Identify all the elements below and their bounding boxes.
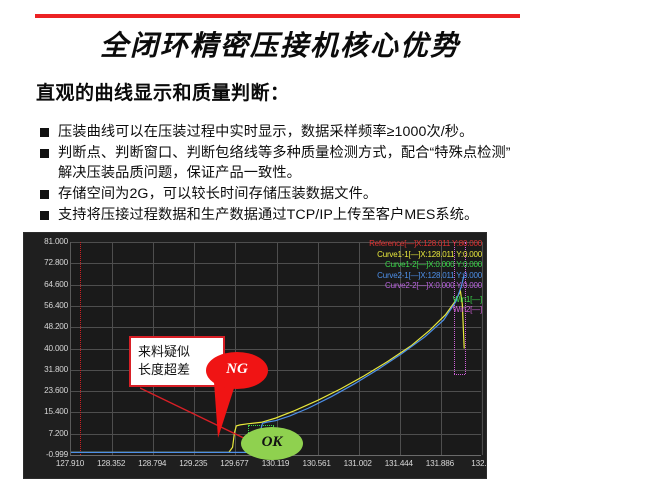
list-item: 判断点、判断窗口、判断包络线等多种质量检测方式，配合“特殊点检测” 解决压装品质… [40,143,640,183]
legend-item-curve1-2: Curve1-2[—]X:0.000 Y:0.000 [369,260,482,271]
x-axis-tick: 127.910 [56,459,84,468]
bullet-square-icon [40,128,49,137]
y-axis-tick: 81.000 [24,237,68,246]
y-axis-tick: 31.800 [24,365,68,374]
list-item-text: 压装曲线可以在压装过程中实时显示，数据采样频率≥1000次/秒。 [58,122,473,142]
y-axis-tick-labels: 81.00072.80064.60056.40048.20040.00031.8… [24,233,68,478]
list-item-text: 判断点、判断窗口、判断包络线等多种质量检测方式，配合“特殊点检测” 解决压装品质… [58,143,511,183]
ng-badge-label: NG [206,361,268,378]
legend-item-curve2-2: Curve2-2[—]X:0.000 Y:0.000 [369,281,482,292]
x-axis-tick: 128.794 [138,459,166,468]
x-axis-tick: 129.677 [220,459,248,468]
list-item-text: 存储空间为2G，可以较长时间存储压装数据文件。 [58,184,377,204]
y-axis-tick: 72.800 [24,258,68,267]
x-axis-tick: 128.352 [97,459,125,468]
grid-line-vertical [482,242,483,455]
bullet-list: 压装曲线可以在压装过程中实时显示，数据采样频率≥1000次/秒。 判断点、判断窗… [40,122,640,226]
x-axis-tick: 131.886 [426,459,454,468]
ng-badge: NG [206,352,268,389]
chart-legend: Reference[—]X:128.011 Y:80.000 Curve1-1[… [369,239,482,316]
x-axis-tick: 131.002 [344,459,372,468]
title-accent-rule [35,14,520,18]
list-item: 存储空间为2G，可以较长时间存储压装数据文件。 [40,184,640,204]
bullet-square-icon [40,211,49,220]
x-axis-tick-labels: 127.910128.352128.794129.235129.677130.1… [70,459,485,475]
list-item-text: 支持将压接过程数据和生产数据通过TCP/IP上传至客户MES系统。 [58,205,478,225]
y-axis-tick: 40.000 [24,344,68,353]
x-axis-tick: 129.235 [179,459,207,468]
x-axis-tick: 130.561 [302,459,330,468]
y-axis-tick: 23.600 [24,386,68,395]
legend-item-win1: Win1[—] [369,295,482,306]
list-item-line1: 压装曲线可以在压装过程中实时显示，数据采样频率≥1000次/秒。 [58,124,473,140]
list-item: 压装曲线可以在压装过程中实时显示，数据采样频率≥1000次/秒。 [40,122,640,142]
y-axis-tick: 64.600 [24,280,68,289]
list-item-line1: 判断点、判断窗口、判断包络线等多种质量检测方式，配合“特殊点检测” [58,145,511,161]
x-axis-tick: 132.3 [471,459,487,468]
ok-badge-label: OK [241,434,303,451]
y-axis-tick: 56.400 [24,301,68,310]
ok-badge: OK [241,427,303,460]
y-axis-tick: 15.400 [24,407,68,416]
x-axis-tick: 131.444 [385,459,413,468]
legend-item-win2: Win2[—] [369,305,482,316]
legend-item-curve1-1: Curve1-1[—]X:128.011 Y:0.000 [369,250,482,261]
bullet-square-icon [40,149,49,158]
legend-item-reference: Reference[—]X:128.011 Y:80.000 [369,239,482,250]
bullet-square-icon [40,190,49,199]
list-item-line1: 存储空间为2G，可以较长时间存储压装数据文件。 [58,186,377,202]
section-heading: 直观的曲线显示和质量判断： [36,78,290,105]
slide-root: 全闭环精密压接机核心优势 直观的曲线显示和质量判断： 压装曲线可以在压装过程中实… [0,0,650,487]
list-item: 支持将压接过程数据和生产数据通过TCP/IP上传至客户MES系统。 [40,205,640,225]
page-title: 全闭环精密压接机核心优势 [0,24,560,64]
y-axis-tick: -0.999 [24,450,68,459]
legend-item-curve2-1: Curve2-1[—]X:128.011 Y:0.000 [369,271,482,282]
list-item-line1: 支持将压接过程数据和生产数据通过TCP/IP上传至客户MES系统。 [58,207,478,223]
y-axis-tick: 48.200 [24,322,68,331]
x-axis-tick: 130.119 [262,459,290,468]
list-item-line2: 解决压装品质问题，保证产品一致性。 [58,163,511,183]
y-axis-tick: 7.200 [24,429,68,438]
ng-callout-line1: 来料疑似 [138,343,217,361]
